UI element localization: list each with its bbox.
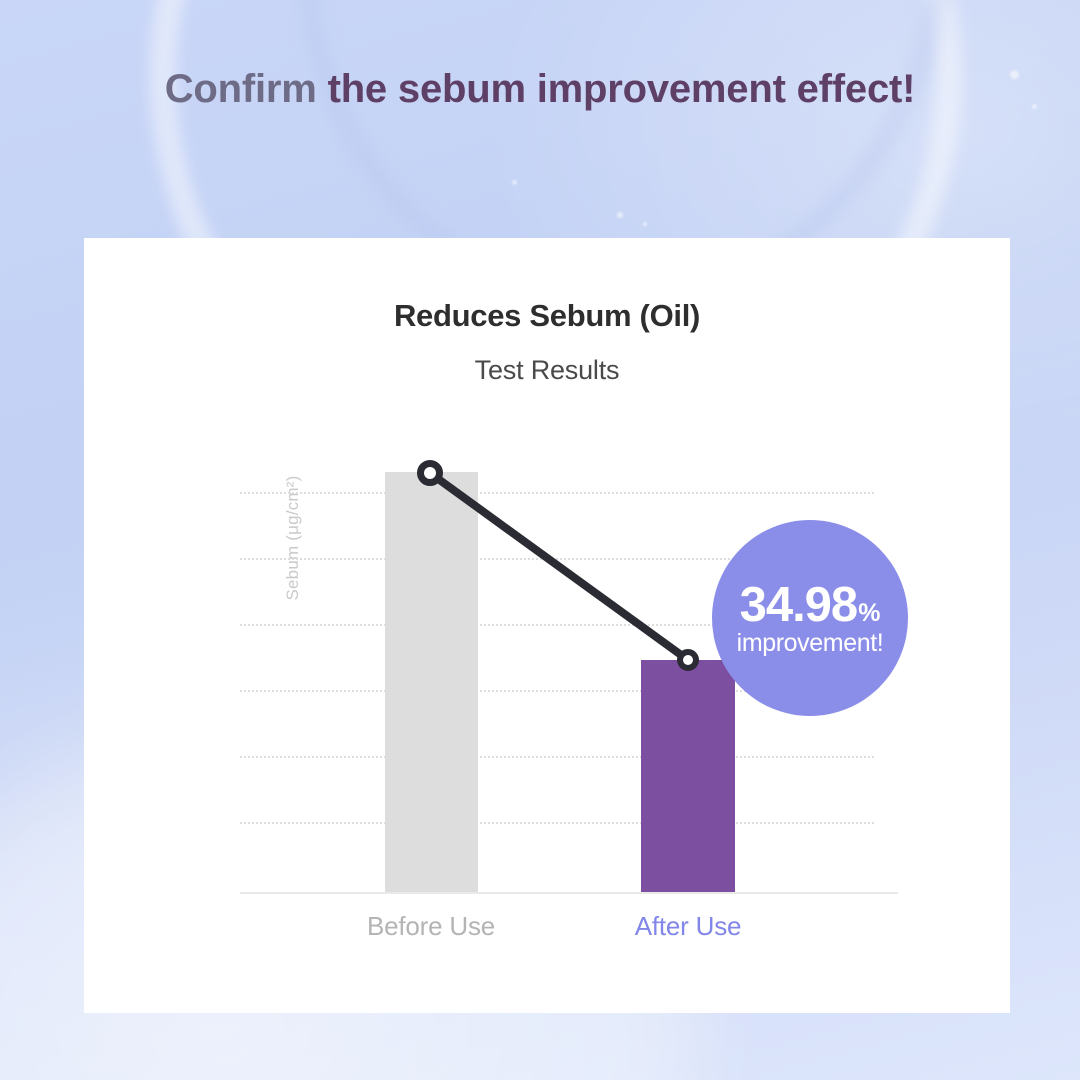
headline-strong-text: the sebum improvement effect! [328, 67, 916, 111]
background-bubble [643, 222, 647, 226]
badge-caption: improvement! [737, 631, 884, 656]
background-bubble [617, 212, 623, 218]
page-headline: Confirm the sebum improvement effect! [0, 66, 1080, 114]
headline-lead-text: Confirm [165, 67, 328, 111]
marker-before-use [421, 464, 440, 483]
bar-chart: Sebum (μg/cm²) 34.98 % improvement! [84, 238, 1010, 1013]
badge-percent-sign: % [858, 601, 880, 626]
poster-canvas: Confirm the sebum improvement effect! Re… [0, 0, 1080, 1080]
category-label-before-use: Before Use [331, 911, 531, 942]
improvement-badge: 34.98 % improvement! [712, 520, 908, 716]
badge-value: 34.98 [740, 581, 858, 630]
background-bubble [512, 180, 517, 185]
marker-after-use [680, 652, 696, 668]
category-label-after-use: After Use [588, 911, 788, 942]
result-card: Reduces Sebum (Oil) Test Results Sebum (… [84, 238, 1010, 1013]
badge-value-row: 34.98 % [740, 581, 881, 630]
